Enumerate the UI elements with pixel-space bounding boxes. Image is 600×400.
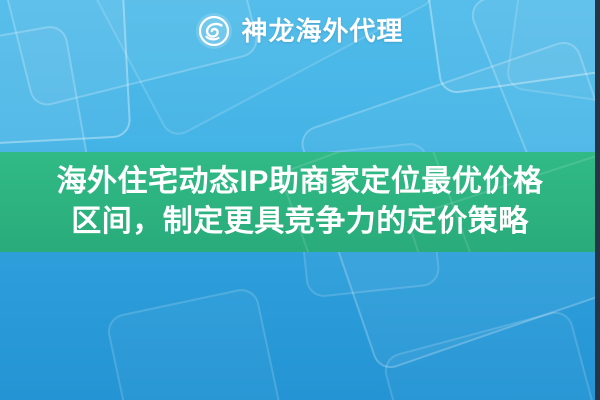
headline-line-1: 海外住宅动态IP助商家定位最优价格	[57, 162, 544, 202]
brand-name: 神龙海外代理	[241, 18, 403, 44]
swirl-logo-icon	[196, 13, 232, 49]
right-edge-strip	[595, 0, 600, 400]
promo-banner: 神龙海外代理 海外住宅动态IP助商家定位最优价格 区间，制定更具竞争力的定价策略	[0, 0, 600, 400]
headline-band: 海外住宅动态IP助商家定位最优价格 区间，制定更具竞争力的定价策略	[0, 152, 600, 252]
brand-header: 神龙海外代理	[0, 8, 600, 54]
headline-line-2: 区间，制定更具竞争力的定价策略	[71, 202, 529, 242]
decorative-rounded-rect	[381, 308, 600, 400]
decorative-rounded-rect	[105, 286, 290, 400]
